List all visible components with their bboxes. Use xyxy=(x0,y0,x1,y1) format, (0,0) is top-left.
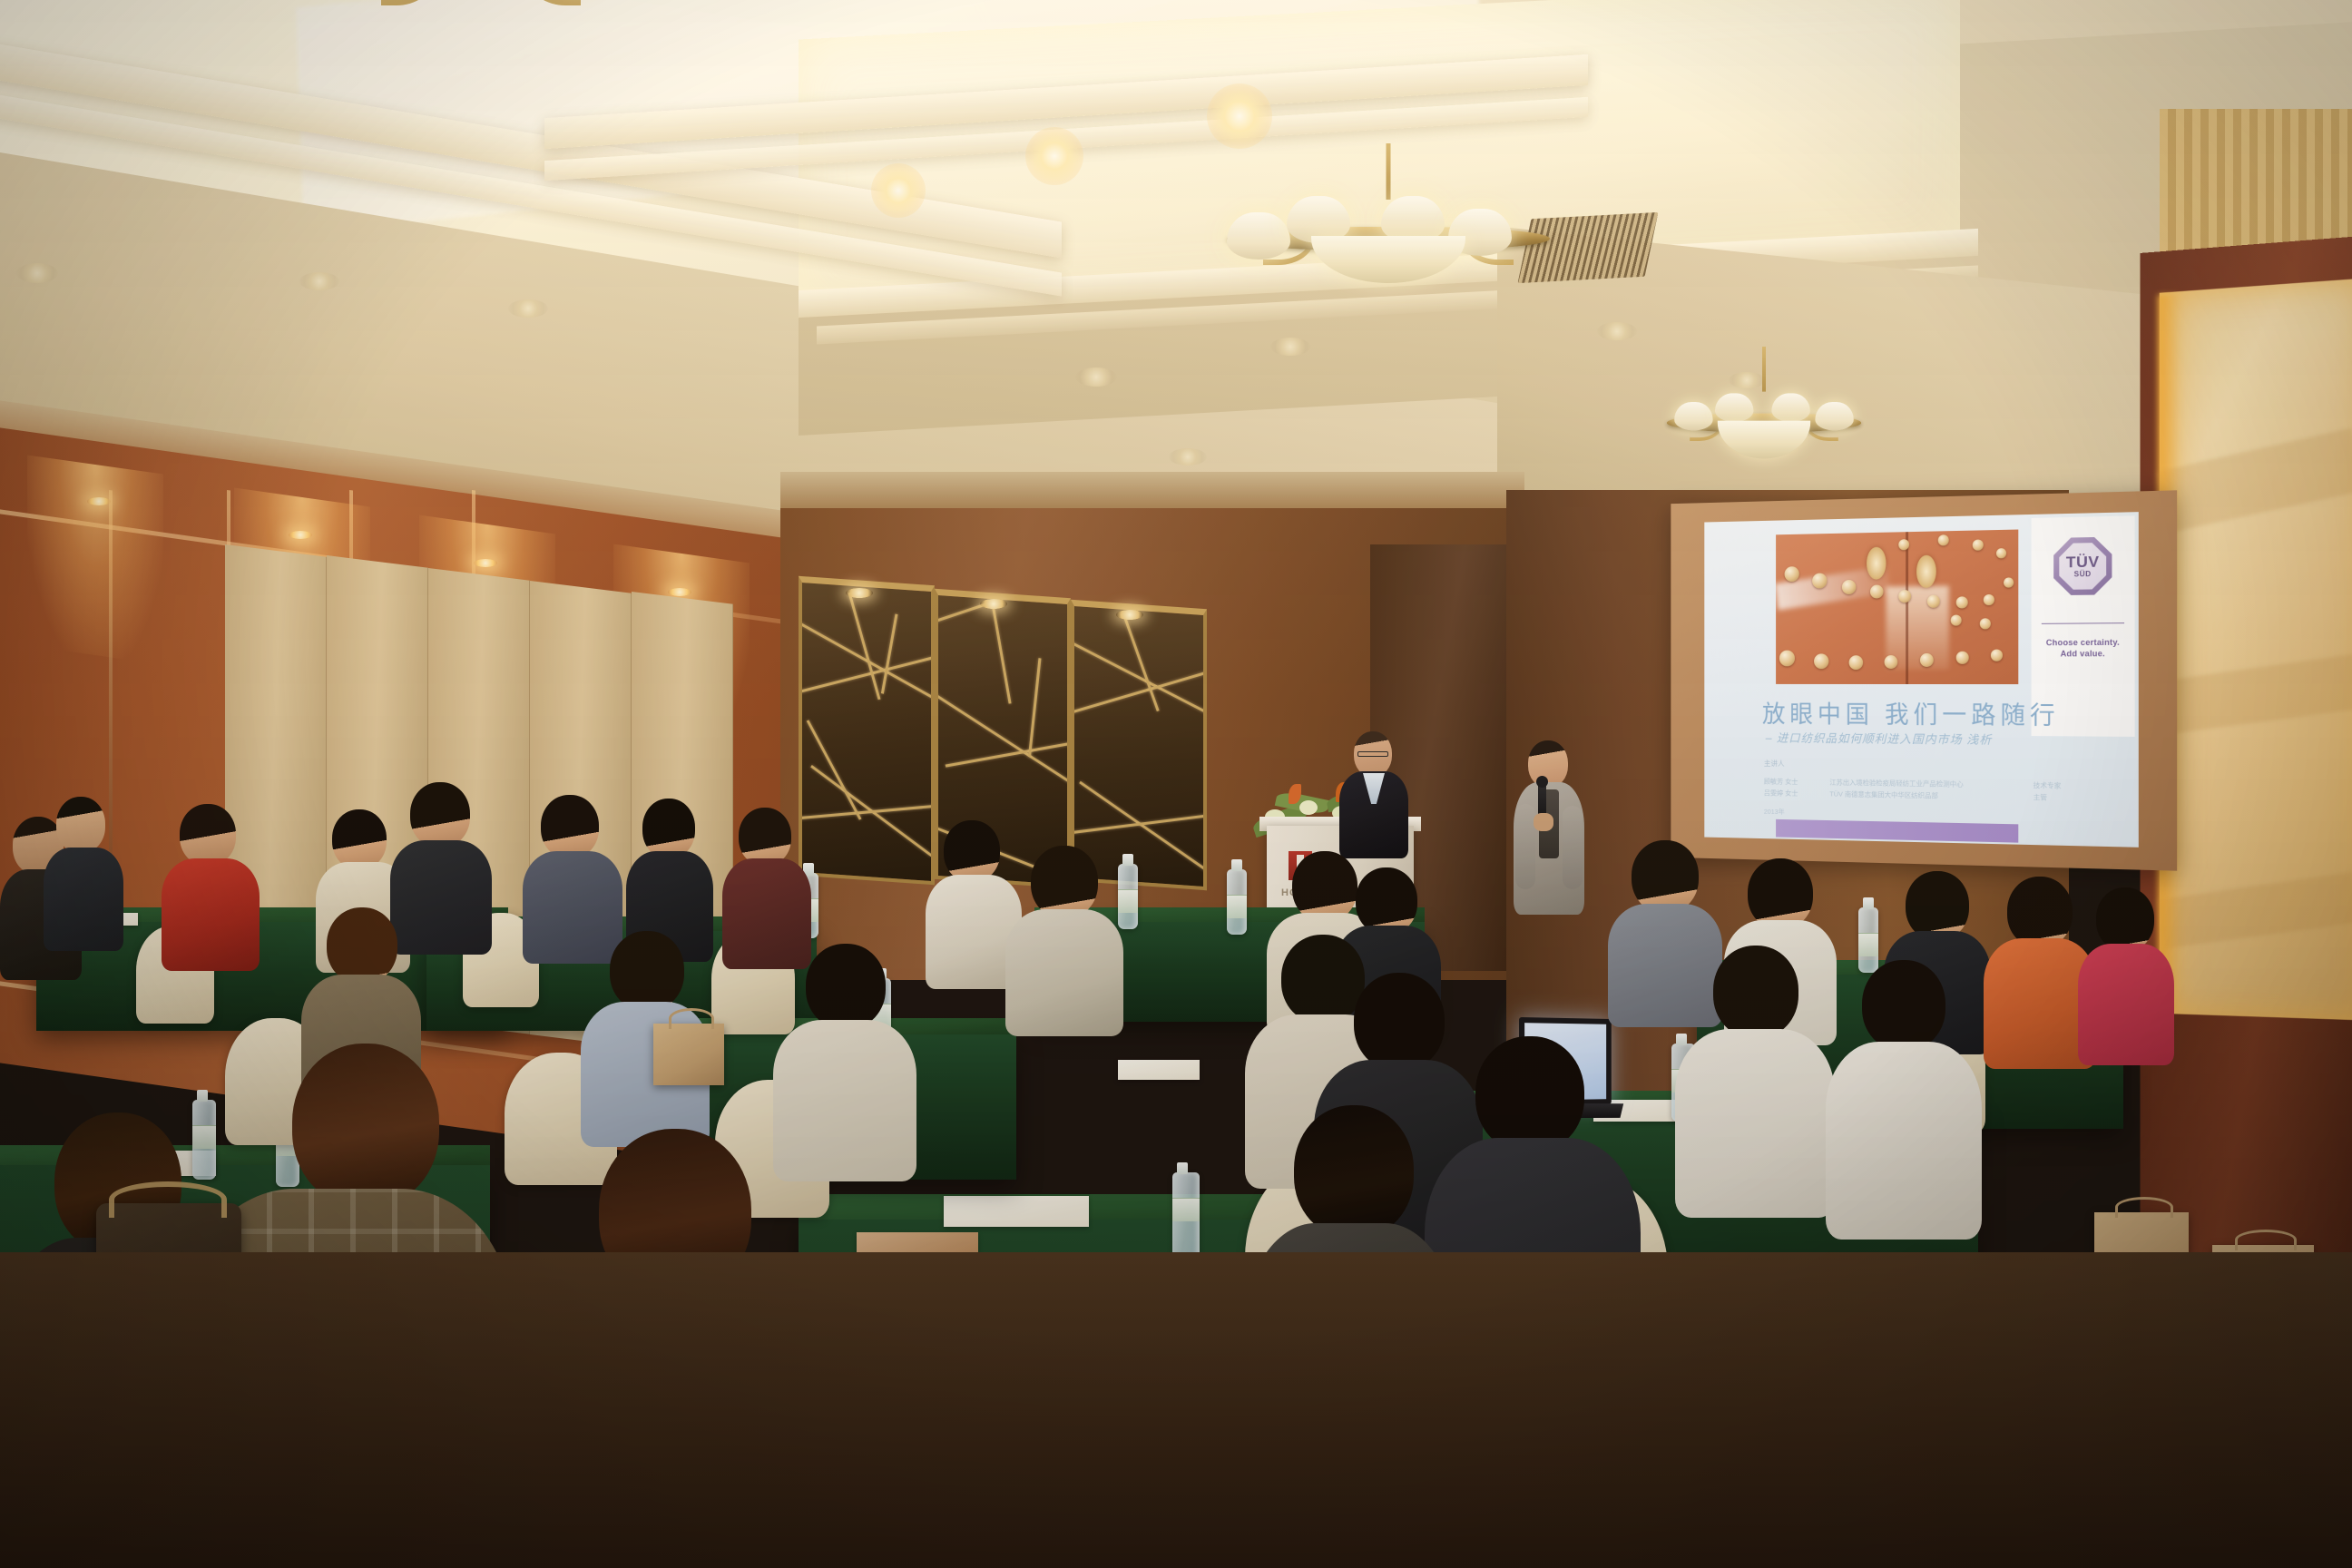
lattice-uplight-icon xyxy=(980,599,1007,609)
speaker-man xyxy=(1339,731,1408,858)
chandelier-main xyxy=(1227,196,1550,296)
notepad xyxy=(1118,1060,1200,1080)
door-stud-icon xyxy=(1920,653,1934,667)
head xyxy=(1748,858,1813,929)
arm-right xyxy=(1563,806,1583,889)
chandelier-cropped-top-left xyxy=(327,0,635,36)
presenter-name: 吕雯婷 女士 xyxy=(1764,788,1818,800)
head xyxy=(1356,867,1417,935)
head xyxy=(410,782,470,848)
wall-spotlight-icon xyxy=(668,588,691,596)
glasses-icon xyxy=(1357,751,1388,757)
head xyxy=(806,944,886,1029)
door-stud-icon xyxy=(2004,577,2014,587)
brand-divider xyxy=(2042,622,2124,624)
door-seam xyxy=(1906,532,1908,684)
door-stud-icon xyxy=(1984,594,1994,605)
door-stud-icon xyxy=(1951,615,1962,626)
head xyxy=(56,797,105,853)
audience-member xyxy=(1675,946,1835,1218)
head xyxy=(2096,887,2154,951)
door-stud-icon xyxy=(1991,650,2003,661)
chandelier-rod xyxy=(1762,347,1766,392)
downlight-icon xyxy=(16,263,58,283)
head xyxy=(944,820,1000,882)
tagline-line-1: Choose certainty. xyxy=(2046,637,2120,649)
audience-member xyxy=(1005,846,1123,1036)
downlight-icon xyxy=(1025,127,1083,185)
head xyxy=(1632,840,1699,913)
slide-title: 放眼中国 我们一路随行 xyxy=(1762,695,2123,732)
bottle-label xyxy=(1172,1198,1200,1221)
panel-grain xyxy=(2157,654,2352,735)
torso xyxy=(162,858,260,971)
bottle-label xyxy=(1858,933,1878,956)
brand-tagline: Choose certainty. Add value. xyxy=(2046,637,2120,660)
door-stud-icon xyxy=(1996,548,2006,558)
tagline-line-2: Add value. xyxy=(2046,648,2120,660)
door-stud-icon xyxy=(1927,595,1940,608)
downlight-icon xyxy=(1169,448,1207,465)
downlight-icon xyxy=(1729,372,1765,388)
wall-wash-light xyxy=(27,455,163,664)
presenter-name: 顾敏芳 女士 xyxy=(1764,777,1818,789)
panel-grain xyxy=(2155,428,2352,534)
head xyxy=(1862,960,1945,1051)
chandelier-shade xyxy=(1715,393,1754,422)
wall-spotlight-icon xyxy=(87,497,111,505)
head xyxy=(1475,1036,1584,1152)
handbag-chain xyxy=(109,1181,227,1218)
chandelier-shade xyxy=(1815,402,1854,431)
arm-left xyxy=(1515,804,1535,889)
head xyxy=(1528,740,1568,788)
slide-presenter-rows: 顾敏芳 女士 江苏出入境检验检疫局轻纺工业产品检测中心 技术专家 吕雯婷 女士 … xyxy=(1764,777,2125,806)
tuv-octagon-icon: TÜV SÜD xyxy=(2053,537,2112,596)
curtain-valance xyxy=(2160,109,2352,254)
torso xyxy=(1826,1042,1982,1240)
chandelier-arm xyxy=(381,0,432,5)
head xyxy=(1031,846,1098,918)
downlight-icon xyxy=(1207,83,1272,149)
flower-bloom xyxy=(1299,800,1318,815)
hand xyxy=(1534,813,1553,831)
head xyxy=(332,809,387,869)
door-stud-icon xyxy=(1842,580,1857,594)
door-stud-icon xyxy=(1973,539,1984,550)
head xyxy=(1906,871,1969,940)
head xyxy=(180,804,236,866)
downlight-icon xyxy=(1597,322,1637,340)
head xyxy=(2007,877,2073,947)
tuv-mark-text: TÜV SÜD xyxy=(2066,554,2100,578)
floor-carpet xyxy=(0,1252,2352,1568)
door-plaque-icon xyxy=(1867,547,1886,580)
slide-date: 2013年 xyxy=(1764,807,1785,817)
tuv-mark-bottom: SÜD xyxy=(2066,571,2100,579)
chandelier-shade xyxy=(1227,212,1290,260)
speaker-woman xyxy=(1514,740,1584,915)
presenter-org: TÜV 南德意志集团大中华区纺织品部 xyxy=(1829,789,2020,803)
torso xyxy=(1005,909,1123,1036)
water-bottle xyxy=(1172,1172,1200,1259)
door-stud-icon xyxy=(1956,596,1968,608)
projection-screen: TÜV SÜD Choose certainty. Add value. 放眼中… xyxy=(1671,490,2177,870)
decorative-lattice-screen xyxy=(799,576,935,885)
downlight-icon xyxy=(871,163,926,218)
head xyxy=(541,795,599,858)
head xyxy=(610,931,684,1011)
downlight-icon xyxy=(1075,367,1117,387)
lattice-uplight-icon xyxy=(846,588,873,598)
slide-photo-red-door xyxy=(1776,530,2018,685)
panel-grain xyxy=(2157,872,2352,949)
head xyxy=(1294,1105,1414,1238)
audience-member xyxy=(44,797,123,951)
door-plaque-icon xyxy=(1916,555,1936,588)
torso xyxy=(44,848,123,951)
audience-member xyxy=(1826,960,1982,1240)
door-stud-icon xyxy=(1849,655,1864,670)
notepad xyxy=(944,1196,1089,1227)
head xyxy=(1713,946,1798,1038)
torso xyxy=(2078,944,2174,1065)
presenter-role: 技术专家 xyxy=(2033,780,2062,792)
backlit-panel-surface xyxy=(2160,279,2352,1020)
water-bottle xyxy=(1227,869,1247,935)
tote-bag xyxy=(653,1024,724,1085)
slide-accent-bar xyxy=(1776,819,2018,843)
presentation-slide: TÜV SÜD Choose certainty. Add value. 放眼中… xyxy=(1704,512,2139,848)
door-stud-icon xyxy=(1812,573,1827,589)
conference-room-photo: TÜV SÜD Choose certainty. Add value. 放眼中… xyxy=(0,0,2352,1568)
chandelier-bowl xyxy=(1311,236,1466,283)
door-stud-icon xyxy=(1980,618,1991,629)
downlight-icon xyxy=(508,299,548,318)
bottle-label xyxy=(1227,895,1247,918)
door-stud-icon xyxy=(1814,653,1828,669)
slide-subtitle: – 进口纺织品如何顺利进入国内市场 浅析 xyxy=(1766,729,2127,749)
wall-spotlight-icon xyxy=(474,559,497,567)
tuv-sud-logo: TÜV SÜD xyxy=(2053,537,2112,596)
slide-presenter-label: 主讲人 xyxy=(1764,759,1785,769)
audience-member-pink xyxy=(2078,887,2174,1065)
head xyxy=(642,799,695,858)
door-stud-icon xyxy=(1956,652,1969,664)
chandelier-rod xyxy=(1387,143,1391,200)
downlight-icon xyxy=(1270,338,1310,356)
head xyxy=(327,907,397,984)
lattice-uplight-icon xyxy=(1116,610,1143,620)
wall-spotlight-icon xyxy=(289,531,312,539)
chandelier-shade xyxy=(1771,393,1810,422)
door-stud-icon xyxy=(1898,590,1911,603)
door-stud-icon xyxy=(1938,534,1949,545)
chandelier-far xyxy=(1667,388,1861,449)
tuv-mark-top: TÜV xyxy=(2066,554,2100,570)
downlight-icon xyxy=(299,272,339,290)
chandelier-arm xyxy=(530,0,581,5)
chandelier-shade xyxy=(1674,402,1713,431)
torso xyxy=(1675,1029,1835,1218)
audience-member-red-jacket xyxy=(162,804,260,971)
door-stud-icon xyxy=(1885,655,1898,669)
head xyxy=(739,808,791,866)
door-stud-icon xyxy=(1870,584,1884,598)
door-stud-icon xyxy=(1779,651,1795,667)
head xyxy=(292,1044,439,1207)
presenter-role: 主管 xyxy=(2033,792,2047,804)
